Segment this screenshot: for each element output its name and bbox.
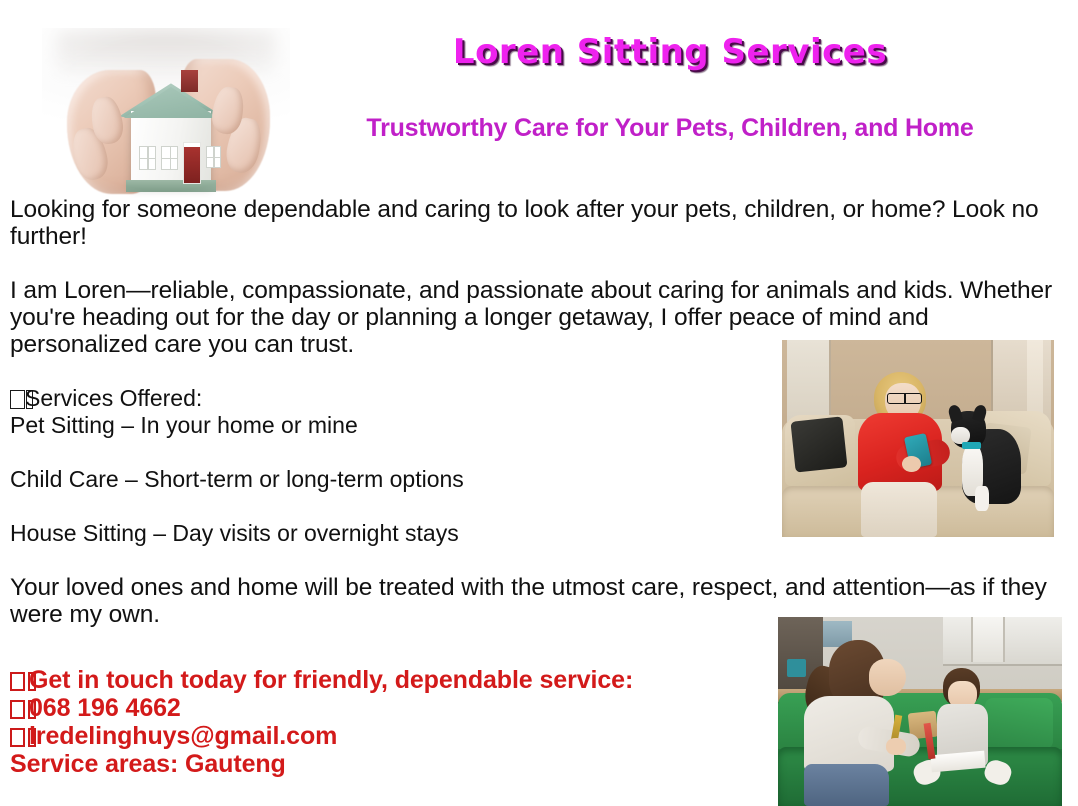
page-subtitle: Trustworthy Care for Your Pets, Children… [300,114,1040,143]
title-block: Loren Sitting Services [300,34,1040,71]
black-throw-pillow [790,416,847,472]
contact-email-line[interactable]: lredelinghuys@gmail.com [0,722,760,750]
couch-cushion [985,698,1053,749]
list-spacer [0,547,1078,574]
contact-zone: Get in touch today for friendly, dependa… [0,666,760,778]
photo-vignette [42,28,290,201]
contact-email-text[interactable]: lredelinghuys@gmail.com [29,722,337,750]
contact-cta-text: Get in touch today for friendly, dependa… [29,666,633,694]
missing-glyph-box-icon [10,672,25,691]
woman-hand [886,738,906,755]
cabinet-door [971,617,1005,662]
woman-with-dog-on-couch-photo [782,340,1054,537]
woman-jeans [804,764,889,806]
dog-collar [962,442,981,449]
contact-cta-line: Get in touch today for friendly, dependa… [0,666,760,694]
teal-object [787,659,807,678]
service-areas-line: Service areas: Gauteng [0,750,760,778]
header-zone: Loren Sitting Services Trustworthy Care … [0,0,1078,200]
woman-face [869,659,906,697]
contact-phone-line[interactable]: 068 196 4662 [0,694,760,722]
email-glyph-box-icon [10,728,25,747]
dog-front-leg [975,486,989,512]
eyeglasses-icon [887,393,922,404]
woman-and-child-drawing-photo [778,617,1062,806]
woman-hand [902,456,921,472]
services-heading: Services Offered: [25,385,202,411]
page-title: Loren Sitting Services [300,34,1040,71]
missing-glyph-box-icon [10,390,25,409]
intro-paragraph-1: Looking for someone dependable and carin… [0,196,1078,250]
contact-phone-text[interactable]: 068 196 4662 [29,694,181,722]
paragraph-spacer [0,250,1078,277]
hands-holding-house-photo [42,28,290,201]
woman-trousers [861,482,937,537]
phone-glyph-box-icon [10,700,25,719]
